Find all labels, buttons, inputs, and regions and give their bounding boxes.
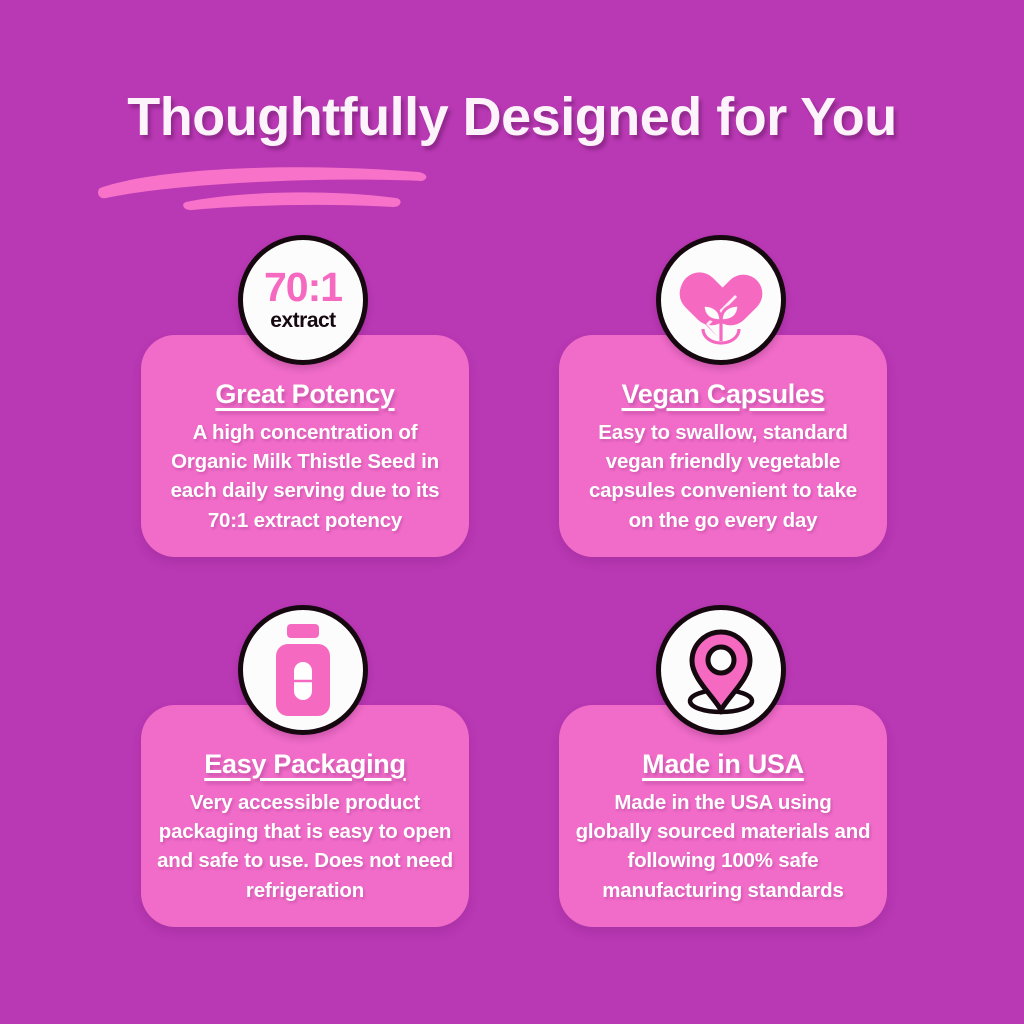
infographic-page: Thoughtfully Designed for You Great Pote… — [0, 0, 1024, 1024]
header: Thoughtfully Designed for You — [0, 0, 1024, 220]
potency-ratio-icon: 70:1 extract — [238, 235, 368, 365]
map-pin-icon — [656, 605, 786, 735]
feature-description: Very accessible product packaging that i… — [157, 788, 453, 904]
feature-card-easy-packaging[interactable]: Easy Packaging Very accessible product p… — [93, 600, 513, 940]
feature-title: Easy Packaging — [157, 749, 453, 779]
ratio-value: 70:1 — [264, 269, 342, 307]
feature-card-made-in-usa[interactable]: Made in USA Made in the USA using global… — [511, 600, 931, 940]
feature-card-great-potency[interactable]: Great Potency A high concentration of Or… — [93, 230, 513, 570]
feature-card-body: Vegan Capsules Easy to swallow, standard… — [559, 335, 887, 557]
ratio-caption: extract — [270, 310, 335, 331]
feature-card-vegan-capsules[interactable]: Vegan Capsules Easy to swallow, standard… — [511, 230, 931, 570]
supplement-bottle-icon — [238, 605, 368, 735]
page-title: Thoughtfully Designed for You — [0, 86, 1024, 148]
swoosh-underline-icon — [96, 158, 436, 212]
feature-description: Easy to swallow, standard vegan friendly… — [575, 418, 871, 534]
feature-description: Made in the USA using globally sourced m… — [575, 788, 871, 904]
feature-title: Great Potency — [157, 379, 453, 409]
feature-title: Made in USA — [575, 749, 871, 779]
feature-card-body: Easy Packaging Very accessible product p… — [141, 705, 469, 927]
feature-title: Vegan Capsules — [575, 379, 871, 409]
vegan-capsule-heart-icon — [656, 235, 786, 365]
feature-grid: Great Potency A high concentration of Or… — [0, 230, 1024, 960]
feature-description: A high concentration of Organic Milk Thi… — [157, 418, 453, 534]
feature-card-body: Made in USA Made in the USA using global… — [559, 705, 887, 927]
feature-card-body: Great Potency A high concentration of Or… — [141, 335, 469, 557]
